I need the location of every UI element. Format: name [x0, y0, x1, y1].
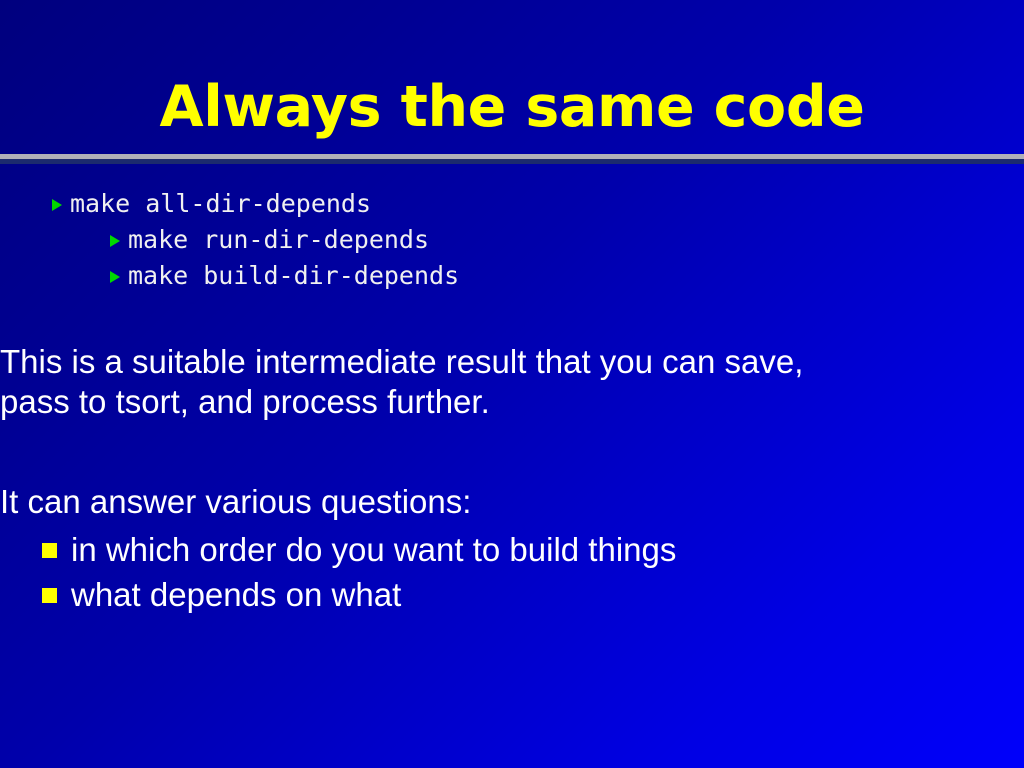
slide-body: make all-dir-depends make run-dir-depend… — [0, 186, 1024, 617]
description-paragraph: This is a suitable intermediate result t… — [0, 342, 960, 422]
paragraph-line: This is a suitable intermediate result t… — [0, 342, 960, 382]
green-triangle-bullet-icon — [110, 271, 120, 283]
yellow-square-bullet-icon — [42, 588, 57, 603]
list-item: make build-dir-depends — [0, 258, 1024, 294]
questions-section: It can answer various questions: in whic… — [0, 482, 1024, 617]
page-title: Always the same code — [160, 74, 865, 140]
title-area: Always the same code — [0, 74, 1024, 140]
paragraph-line: pass to tsort, and process further. — [0, 382, 960, 422]
list-item: make run-dir-depends — [0, 222, 1024, 258]
question-label: what depends on what — [71, 572, 401, 617]
green-triangle-bullet-icon — [110, 235, 120, 247]
list-item: make all-dir-depends — [0, 186, 1024, 222]
divider-shadow-line — [0, 159, 1024, 164]
list-item: what depends on what — [0, 572, 1024, 617]
code-command-label: make build-dir-depends — [128, 258, 459, 294]
code-command-list: make all-dir-depends make run-dir-depend… — [0, 186, 1024, 294]
title-divider — [0, 154, 1024, 164]
code-command-label: make all-dir-depends — [70, 186, 371, 222]
questions-lead-text: It can answer various questions: — [0, 482, 1024, 522]
yellow-square-bullet-icon — [42, 543, 57, 558]
questions-list: in which order do you want to build thin… — [0, 527, 1024, 617]
code-command-label: make run-dir-depends — [128, 222, 429, 258]
question-label: in which order do you want to build thin… — [71, 527, 676, 572]
presentation-slide: Always the same code make all-dir-depend… — [0, 0, 1024, 768]
green-triangle-bullet-icon — [52, 199, 62, 211]
list-item: in which order do you want to build thin… — [0, 527, 1024, 572]
